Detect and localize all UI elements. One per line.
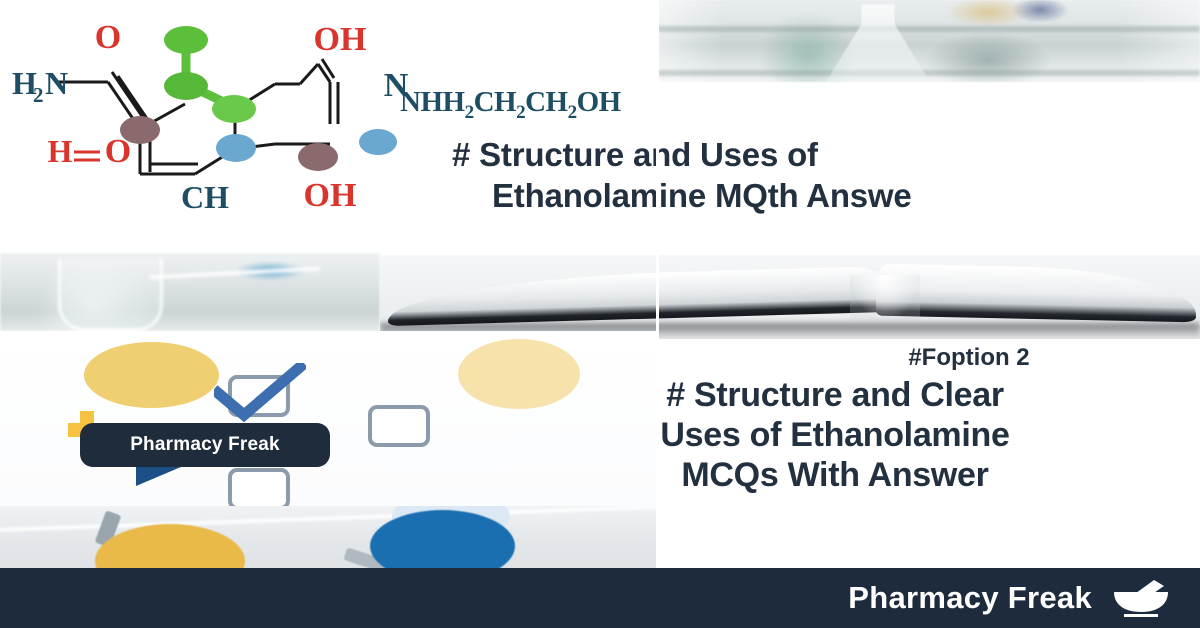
book-left-page <box>388 266 888 326</box>
badge-label: Pharmacy Freak <box>130 434 280 456</box>
svg-text:OH: OH <box>314 21 367 58</box>
book-right-page <box>876 264 1196 323</box>
decorative-ellipse-yellow-primary <box>84 342 219 408</box>
pharmacy-freak-badge: Pharmacy Freak <box>80 423 330 467</box>
svg-text:2: 2 <box>33 83 44 107</box>
lab-photo-top-right <box>658 0 1200 82</box>
svg-text:H: H <box>48 133 73 169</box>
yellow-flask-shape <box>95 524 245 570</box>
bottom-panel-subtitle: #Foption 2 <box>658 344 1200 372</box>
lab-photo-left-band <box>0 253 380 331</box>
checkbox-empty-bottom[interactable] <box>228 468 290 506</box>
bottom-panel-title: # Structure and ClearUses of Ethanolamin… <box>470 375 1200 495</box>
svg-text:O: O <box>95 19 121 56</box>
beaker-icon <box>58 259 163 331</box>
bottom-title-line-2: Uses of Ethanolamine <box>660 416 1009 454</box>
checkbox-empty-right[interactable] <box>368 405 430 447</box>
infographic-canvas: O O H OH OH CH N H 2 N NHH2CH2CH2OH # St… <box>0 0 1200 628</box>
brand-bar: Pharmacy Freak <box>0 568 1200 628</box>
svg-text:O: O <box>105 133 131 170</box>
bottom-title-line-1: # Structure and Clear <box>666 376 1004 414</box>
top-panel-title: # Structure and Uses ofEthanolamine MQth… <box>452 134 1200 217</box>
bottom-title-line-3: MCQs With Answer <box>681 456 988 494</box>
vertical-divider <box>656 0 659 568</box>
open-book-photo <box>380 255 1200 339</box>
flask-icon <box>826 4 930 82</box>
glass-rod-icon <box>150 267 320 280</box>
top-title-line-2: Ethanolamine MQth Answe <box>452 175 1200 216</box>
svg-text:OH: OH <box>304 177 357 214</box>
brand-name: Pharmacy Freak <box>848 580 1092 616</box>
svg-text:CH: CH <box>181 179 229 214</box>
bottom-photo-band <box>0 506 658 570</box>
checkbox-checked[interactable] <box>228 375 290 417</box>
svg-text:N: N <box>45 65 68 101</box>
book-spine <box>850 275 920 321</box>
pointer-triangle-icon <box>136 464 188 486</box>
molecule-chain-label: NHH2CH2CH2OH <box>400 86 621 124</box>
mortar-and-pestle-icon <box>1110 578 1172 618</box>
top-title-line-1: # Structure and Uses of <box>452 136 818 173</box>
